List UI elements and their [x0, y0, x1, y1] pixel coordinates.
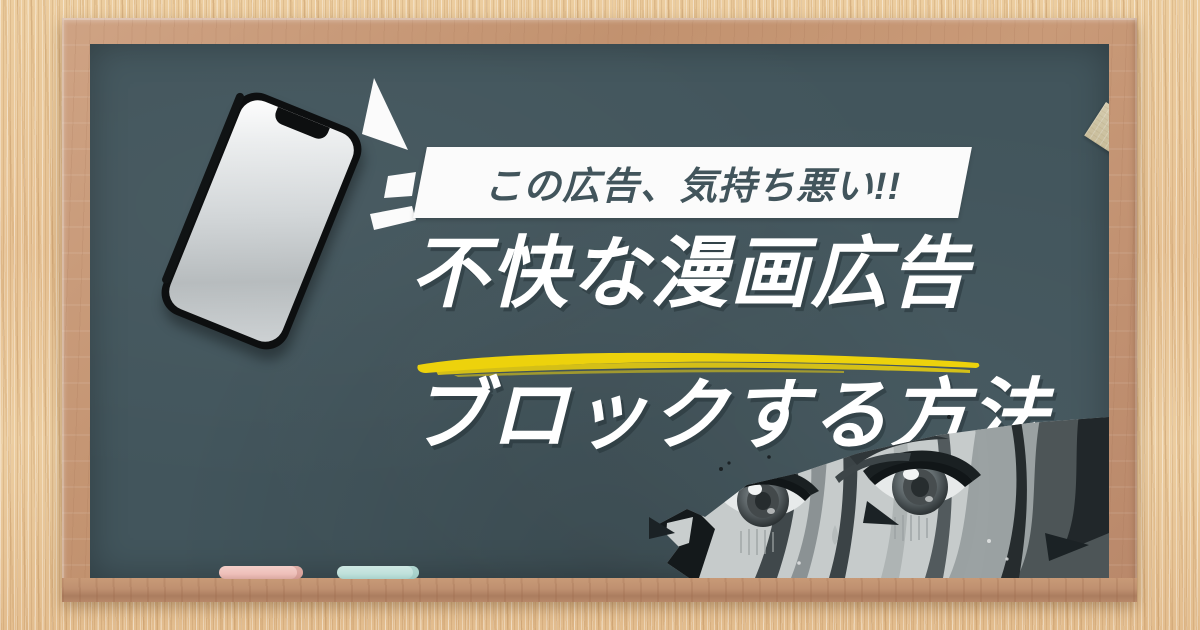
chalk-stick-pink	[219, 566, 303, 579]
subtitle-banner: この広告、気持ち悪い!!	[413, 147, 972, 218]
tape-texture	[1084, 102, 1109, 206]
blackboard-frame: この広告、気持ち悪い!! 不快な漫画広告 ブロックする方法	[62, 18, 1137, 602]
chalk-stick-blue	[337, 566, 419, 579]
manga-girl-eyes-illustration	[649, 413, 1109, 578]
headline-line-1: 不快な漫画広告	[410, 234, 1030, 312]
thumbnail-canvas: この広告、気持ち悪い!! 不快な漫画広告 ブロックする方法	[0, 0, 1200, 630]
impact-lines-icon	[300, 72, 420, 262]
chalk-ledge	[62, 578, 1137, 602]
headline-block: 不快な漫画広告	[410, 234, 1030, 320]
masking-tape-icon	[1084, 102, 1109, 206]
ledge-wood-grain	[62, 578, 1137, 602]
subtitle-text: この広告、気持ち悪い!!	[420, 147, 965, 218]
blackboard-surface: この広告、気持ち悪い!! 不快な漫画広告 ブロックする方法	[90, 44, 1109, 578]
